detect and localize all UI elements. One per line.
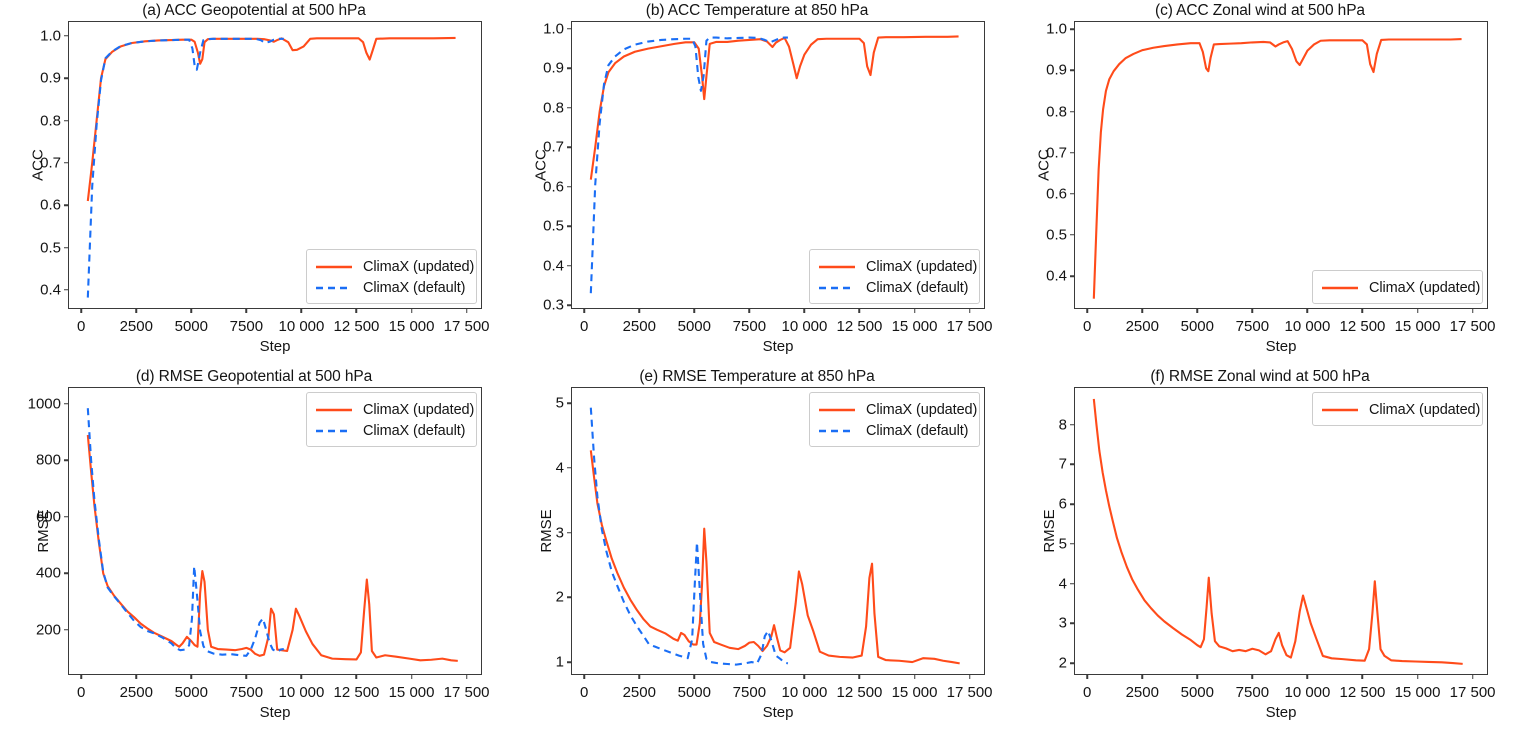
xtick-label-b-7: 17 500	[947, 318, 993, 335]
xtick-label-e-7: 17 500	[947, 684, 993, 701]
x-axis-label-e: Step	[763, 704, 794, 721]
xtick-label-f-1: 2500	[1126, 684, 1159, 701]
xtick-mark-c-3	[1252, 309, 1254, 313]
xtick-mark-b-5	[859, 309, 861, 313]
xtick-mark-e-7	[969, 675, 971, 679]
x-axis-label-d: Step	[260, 704, 291, 721]
legend-a: ClimaX (updated)ClimaX (default)	[306, 249, 477, 304]
xtick-label-a-2: 5000	[175, 318, 208, 335]
ytick-label-f-4: 6	[1059, 496, 1067, 513]
xtick-mark-b-1	[639, 309, 641, 313]
xtick-mark-a-3	[246, 309, 248, 313]
legend-d: ClimaX (updated)ClimaX (default)	[306, 392, 477, 447]
xtick-mark-b-6	[914, 309, 916, 313]
ytick-mark-b-1	[567, 265, 571, 267]
ytick-label-c-1: 0.5	[1046, 226, 1067, 243]
xtick-mark-d-6	[411, 675, 413, 679]
legend-entry-c-0: ClimaX (updated)	[1321, 277, 1473, 298]
ytick-label-b-2: 0.5	[543, 218, 564, 235]
y-axis-label-c: ACC	[1035, 149, 1052, 181]
ytick-mark-e-2	[567, 532, 571, 534]
xtick-mark-b-4	[804, 309, 806, 313]
xtick-mark-e-3	[749, 675, 751, 679]
xtick-mark-e-6	[914, 675, 916, 679]
ytick-mark-e-3	[567, 467, 571, 469]
ytick-label-c-6: 1.0	[1046, 21, 1067, 38]
xtick-label-c-3: 7500	[1236, 318, 1269, 335]
series-line-e-1	[591, 408, 788, 665]
legend-entry-b-0: ClimaX (updated)	[818, 256, 970, 277]
xtick-label-b-4: 10 000	[781, 318, 827, 335]
ytick-mark-e-0	[567, 661, 571, 663]
xtick-mark-e-4	[804, 675, 806, 679]
xtick-label-a-6: 15 000	[389, 318, 435, 335]
ytick-label-a-2: 0.6	[40, 197, 61, 214]
ytick-label-d-1: 400	[36, 565, 61, 582]
xtick-label-f-2: 5000	[1181, 684, 1214, 701]
legend-line-swatch-icon	[1321, 404, 1359, 416]
ytick-label-d-3: 800	[36, 452, 61, 469]
ytick-label-e-2: 3	[556, 524, 564, 541]
ytick-mark-a-0	[64, 289, 68, 291]
ytick-label-e-1: 2	[556, 589, 564, 606]
xtick-mark-a-6	[411, 309, 413, 313]
xtick-label-e-3: 7500	[733, 684, 766, 701]
xtick-label-d-7: 17 500	[444, 684, 490, 701]
legend-label: ClimaX (updated)	[1369, 402, 1480, 418]
y-axis-label-f: RMSE	[1041, 509, 1058, 552]
ytick-label-e-3: 4	[556, 459, 564, 476]
x-axis-label-b: Step	[763, 338, 794, 355]
xtick-mark-d-7	[466, 675, 468, 679]
xtick-label-d-3: 7500	[230, 684, 263, 701]
series-line-d-1	[88, 408, 284, 656]
ytick-mark-b-0	[567, 304, 571, 306]
legend-label: ClimaX (updated)	[363, 259, 474, 275]
subplot-title-f: (f) RMSE Zonal wind at 500 hPa	[1008, 368, 1512, 386]
ytick-mark-b-5	[567, 107, 571, 109]
ytick-mark-c-2	[1070, 193, 1074, 195]
xtick-label-a-5: 12 500	[334, 318, 380, 335]
series-line-b-0	[591, 36, 959, 179]
xtick-label-a-4: 10 000	[278, 318, 324, 335]
legend-entry-a-1: ClimaX (default)	[315, 277, 467, 298]
xtick-mark-c-7	[1472, 309, 1474, 313]
xtick-label-b-0: 0	[580, 318, 588, 335]
ytick-label-b-6: 0.9	[543, 60, 564, 77]
ytick-label-b-7: 1.0	[543, 20, 564, 37]
legend-label: ClimaX (updated)	[866, 402, 977, 418]
x-axis-label-c: Step	[1266, 338, 1297, 355]
figure-root: (a) ACC Geopotential at 500 hPa0.40.50.6…	[0, 0, 1513, 733]
xtick-label-f-0: 0	[1083, 684, 1091, 701]
legend-entry-e-0: ClimaX (updated)	[818, 399, 970, 420]
series-line-a-1	[88, 39, 284, 298]
xtick-mark-d-1	[136, 675, 138, 679]
legend-entry-b-1: ClimaX (default)	[818, 277, 970, 298]
ytick-mark-f-6	[1070, 424, 1074, 426]
ytick-label-c-0: 0.4	[1046, 268, 1067, 285]
legend-line-swatch-icon	[818, 425, 856, 437]
xtick-mark-b-7	[969, 309, 971, 313]
y-axis-label-d: RMSE	[35, 509, 52, 552]
xtick-label-a-1: 2500	[120, 318, 153, 335]
legend-entry-d-0: ClimaX (updated)	[315, 399, 467, 420]
xtick-label-a-0: 0	[77, 318, 85, 335]
subplot-title-b: (b) ACC Temperature at 850 hPa	[505, 2, 1009, 20]
ytick-label-e-0: 1	[556, 654, 564, 671]
plot-area-a: 0.40.50.60.70.80.91.0025005000750010 000…	[68, 21, 482, 309]
ytick-mark-f-4	[1070, 503, 1074, 505]
xtick-mark-e-0	[583, 675, 585, 679]
subplot-a: (a) ACC Geopotential at 500 hPa0.40.50.6…	[2, 2, 506, 368]
legend-entry-f-0: ClimaX (updated)	[1321, 399, 1473, 420]
ytick-label-b-5: 0.8	[543, 99, 564, 116]
xtick-label-b-3: 7500	[733, 318, 766, 335]
xtick-mark-a-7	[466, 309, 468, 313]
legend-f: ClimaX (updated)	[1312, 392, 1483, 426]
xtick-mark-f-1	[1142, 675, 1144, 679]
legend-line-swatch-icon	[818, 282, 856, 294]
ytick-label-f-6: 8	[1059, 416, 1067, 433]
ytick-mark-b-3	[567, 186, 571, 188]
xtick-mark-c-4	[1307, 309, 1309, 313]
plot-area-f: 2345678025005000750010 00012 50015 00017…	[1074, 387, 1488, 675]
xtick-label-f-5: 12 500	[1340, 684, 1386, 701]
legend-line-swatch-icon	[315, 282, 353, 294]
ytick-mark-b-4	[567, 146, 571, 148]
subplot-d: (d) RMSE Geopotential at 500 hPa20040060…	[2, 368, 506, 734]
legend-label: ClimaX (updated)	[866, 259, 977, 275]
subplot-title-a: (a) ACC Geopotential at 500 hPa	[2, 2, 506, 20]
xtick-label-d-4: 10 000	[278, 684, 324, 701]
ytick-label-c-5: 0.9	[1046, 62, 1067, 79]
ytick-mark-f-2	[1070, 583, 1074, 585]
ytick-label-f-0: 2	[1059, 655, 1067, 672]
xtick-label-c-0: 0	[1083, 318, 1091, 335]
ytick-mark-c-4	[1070, 111, 1074, 113]
xtick-mark-f-3	[1252, 675, 1254, 679]
legend-line-swatch-icon	[315, 425, 353, 437]
ytick-mark-b-7	[567, 28, 571, 30]
ytick-mark-c-3	[1070, 152, 1074, 154]
ytick-mark-a-1	[64, 247, 68, 249]
ytick-mark-f-3	[1070, 543, 1074, 545]
ytick-label-a-5: 0.9	[40, 70, 61, 87]
xtick-label-d-6: 15 000	[389, 684, 435, 701]
subplot-e: (e) RMSE Temperature at 850 hPa123450250…	[505, 368, 1009, 734]
ytick-mark-b-6	[567, 68, 571, 70]
legend-label: ClimaX (default)	[363, 423, 465, 439]
xtick-mark-f-4	[1307, 675, 1309, 679]
ytick-mark-d-0	[64, 629, 68, 631]
legend-label: ClimaX (updated)	[363, 402, 474, 418]
ytick-mark-c-6	[1070, 28, 1074, 30]
ytick-label-c-2: 0.6	[1046, 185, 1067, 202]
xtick-mark-a-4	[301, 309, 303, 313]
xtick-label-c-4: 10 000	[1284, 318, 1330, 335]
xtick-mark-d-5	[356, 675, 358, 679]
plot-area-c: 0.40.50.60.70.80.91.0025005000750010 000…	[1074, 21, 1488, 309]
xtick-mark-a-5	[356, 309, 358, 313]
xtick-mark-f-6	[1417, 675, 1419, 679]
xtick-mark-d-3	[246, 675, 248, 679]
y-axis-label-b: ACC	[532, 149, 549, 181]
ytick-mark-d-4	[64, 403, 68, 405]
xtick-mark-e-1	[639, 675, 641, 679]
xtick-label-d-5: 12 500	[334, 684, 380, 701]
xtick-label-a-3: 7500	[230, 318, 263, 335]
legend-label: ClimaX (default)	[866, 423, 968, 439]
xtick-label-b-2: 5000	[678, 318, 711, 335]
ytick-mark-d-1	[64, 573, 68, 575]
xtick-mark-c-2	[1197, 309, 1199, 313]
xtick-label-c-5: 12 500	[1340, 318, 1386, 335]
legend-entry-a-0: ClimaX (updated)	[315, 256, 467, 277]
xtick-label-e-5: 12 500	[837, 684, 883, 701]
xtick-label-d-2: 5000	[175, 684, 208, 701]
xtick-mark-b-0	[583, 309, 585, 313]
ytick-mark-f-5	[1070, 464, 1074, 466]
xtick-label-e-1: 2500	[623, 684, 656, 701]
xtick-label-b-6: 15 000	[892, 318, 938, 335]
xtick-mark-e-2	[694, 675, 696, 679]
legend-entry-e-1: ClimaX (default)	[818, 420, 970, 441]
subplot-f: (f) RMSE Zonal wind at 500 hPa2345678025…	[1008, 368, 1512, 734]
xtick-mark-c-1	[1142, 309, 1144, 313]
ytick-mark-a-3	[64, 162, 68, 164]
xtick-label-d-1: 2500	[120, 684, 153, 701]
xtick-mark-a-0	[80, 309, 82, 313]
series-line-e-0	[591, 450, 960, 663]
plot-area-b: 0.30.40.50.60.70.80.91.0025005000750010 …	[571, 21, 985, 309]
xtick-mark-f-0	[1086, 675, 1088, 679]
y-axis-label-a: ACC	[29, 149, 46, 181]
subplot-c: (c) ACC Zonal wind at 500 hPa0.40.50.60.…	[1008, 2, 1512, 368]
xtick-label-c-1: 2500	[1126, 318, 1159, 335]
ytick-mark-a-5	[64, 77, 68, 79]
ytick-mark-a-4	[64, 120, 68, 122]
x-axis-label-f: Step	[1266, 704, 1297, 721]
ytick-label-a-6: 1.0	[40, 27, 61, 44]
ytick-label-d-4: 1000	[28, 395, 61, 412]
plot-area-d: 2004006008001000025005000750010 00012 50…	[68, 387, 482, 675]
legend-label: ClimaX (default)	[363, 280, 465, 296]
xtick-mark-a-1	[136, 309, 138, 313]
xtick-label-a-7: 17 500	[444, 318, 490, 335]
ytick-label-f-5: 7	[1059, 456, 1067, 473]
ytick-label-b-1: 0.4	[543, 257, 564, 274]
ytick-label-f-2: 4	[1059, 575, 1067, 592]
legend-label: ClimaX (updated)	[1369, 280, 1480, 296]
legend-e: ClimaX (updated)ClimaX (default)	[809, 392, 980, 447]
xtick-label-e-6: 15 000	[892, 684, 938, 701]
ytick-mark-d-3	[64, 460, 68, 462]
xtick-label-c-6: 15 000	[1395, 318, 1441, 335]
xtick-mark-d-2	[191, 675, 193, 679]
plot-lines-f	[1074, 387, 1488, 675]
ytick-label-f-1: 3	[1059, 615, 1067, 632]
xtick-label-c-7: 17 500	[1450, 318, 1496, 335]
xtick-mark-b-2	[694, 309, 696, 313]
ytick-label-b-0: 0.3	[543, 297, 564, 314]
y-axis-label-e: RMSE	[538, 509, 555, 552]
xtick-label-e-0: 0	[580, 684, 588, 701]
legend-line-swatch-icon	[1321, 282, 1359, 294]
series-line-a-0	[88, 38, 456, 201]
ytick-mark-b-2	[567, 225, 571, 227]
xtick-mark-a-2	[191, 309, 193, 313]
legend-line-swatch-icon	[818, 261, 856, 273]
xtick-mark-c-5	[1362, 309, 1364, 313]
xtick-mark-c-6	[1417, 309, 1419, 313]
x-axis-label-a: Step	[260, 338, 291, 355]
legend-line-swatch-icon	[818, 404, 856, 416]
ytick-mark-f-0	[1070, 662, 1074, 664]
subplot-title-e: (e) RMSE Temperature at 850 hPa	[505, 368, 1009, 386]
ytick-mark-d-2	[64, 516, 68, 518]
subplot-b: (b) ACC Temperature at 850 hPa0.30.40.50…	[505, 2, 1009, 368]
xtick-mark-d-0	[80, 675, 82, 679]
legend-entry-d-1: ClimaX (default)	[315, 420, 467, 441]
xtick-mark-f-7	[1472, 675, 1474, 679]
xtick-label-b-5: 12 500	[837, 318, 883, 335]
ytick-mark-e-1	[567, 597, 571, 599]
ytick-label-f-3: 5	[1059, 535, 1067, 552]
xtick-mark-f-2	[1197, 675, 1199, 679]
legend-line-swatch-icon	[315, 404, 353, 416]
ytick-mark-c-0	[1070, 275, 1074, 277]
legend-b: ClimaX (updated)ClimaX (default)	[809, 249, 980, 304]
ytick-mark-f-1	[1070, 623, 1074, 625]
ytick-mark-c-5	[1070, 70, 1074, 72]
xtick-label-f-3: 7500	[1236, 684, 1269, 701]
ytick-label-c-4: 0.8	[1046, 103, 1067, 120]
ytick-label-a-4: 0.8	[40, 112, 61, 129]
legend-line-swatch-icon	[315, 261, 353, 273]
ytick-label-a-1: 0.5	[40, 239, 61, 256]
xtick-label-f-4: 10 000	[1284, 684, 1330, 701]
xtick-label-e-4: 10 000	[781, 684, 827, 701]
xtick-label-d-0: 0	[77, 684, 85, 701]
series-line-d-0	[88, 435, 458, 661]
xtick-mark-c-0	[1086, 309, 1088, 313]
xtick-label-f-6: 15 000	[1395, 684, 1441, 701]
ytick-label-d-0: 200	[36, 621, 61, 638]
xtick-label-c-2: 5000	[1181, 318, 1214, 335]
xtick-mark-b-3	[749, 309, 751, 313]
plot-lines-c	[1074, 21, 1488, 309]
legend-c: ClimaX (updated)	[1312, 270, 1483, 304]
xtick-label-f-7: 17 500	[1450, 684, 1496, 701]
series-line-b-1	[591, 38, 788, 294]
xtick-mark-e-5	[859, 675, 861, 679]
ytick-mark-a-6	[64, 35, 68, 37]
ytick-label-e-4: 5	[556, 395, 564, 412]
xtick-label-b-1: 2500	[623, 318, 656, 335]
subplot-title-c: (c) ACC Zonal wind at 500 hPa	[1008, 2, 1512, 20]
plot-area-e: 12345025005000750010 00012 50015 00017 5…	[571, 387, 985, 675]
xtick-mark-f-5	[1362, 675, 1364, 679]
legend-label: ClimaX (default)	[866, 280, 968, 296]
series-line-f-0	[1094, 399, 1463, 664]
ytick-mark-a-2	[64, 204, 68, 206]
xtick-label-e-2: 5000	[678, 684, 711, 701]
ytick-label-a-0: 0.4	[40, 281, 61, 298]
ytick-mark-e-4	[567, 402, 571, 404]
xtick-mark-d-4	[301, 675, 303, 679]
subplot-title-d: (d) RMSE Geopotential at 500 hPa	[2, 368, 506, 386]
series-line-c-0	[1094, 39, 1462, 299]
ytick-mark-c-1	[1070, 234, 1074, 236]
